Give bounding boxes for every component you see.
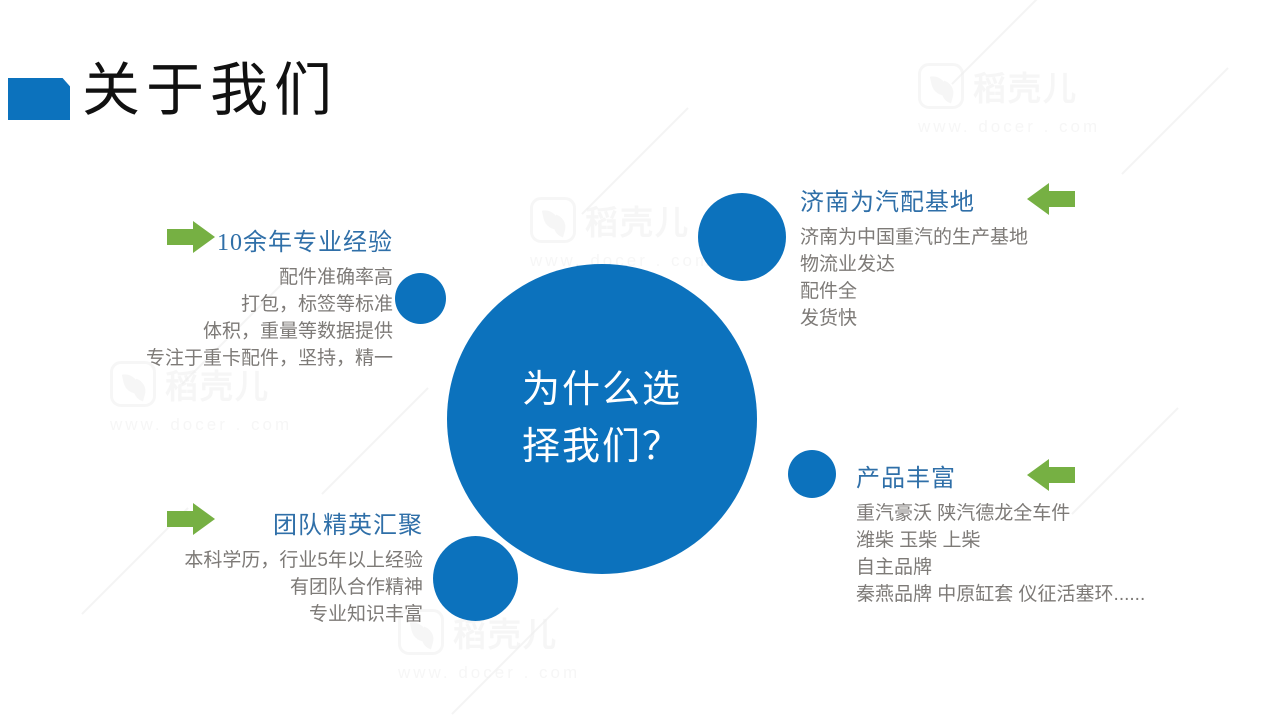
center-circle-label: 为什么选 择我们？ [507,362,697,476]
feature-body: 配件准确率高 打包，标签等标准 体积，重量等数据提供 专注于重卡配件，坚持，精一 [0,265,395,373]
watermark-url: www. docer . com [110,415,340,435]
watermark-diagonal-line [451,607,558,714]
decorative-circle-top-right [698,193,786,281]
feature-block-top-left: 10余年专业经验 配件准确率高 打包，标签等标准 体积，重量等数据提供 专注于重… [0,222,395,373]
watermark-brand: 稻壳儿 [973,62,1078,110]
feature-heading: 10余年专业经验 [0,222,395,257]
watermark-url: www. docer . com [918,117,1148,137]
watermark-url: www. docer . com [398,663,628,683]
watermark: 稻壳儿 www. docer . com [110,360,340,468]
watermark: 稻壳儿 www. docer . com [918,62,1148,170]
watermark-diagonal-line [951,0,1058,85]
feature-heading: 济南为汽配基地 [800,182,1120,217]
docer-leaf-logo-icon [530,197,576,243]
decorative-circle-right [788,450,836,498]
title-accent-tab [8,78,70,120]
watermark-diagonal-line [1121,67,1228,174]
watermark: 稻壳儿 www. docer . com [398,608,628,715]
watermark-diagonal-line [321,387,428,494]
feature-block-top-right: 济南为汽配基地 济南为中国重汽的生产基地 物流业发达 配件全 发货快 [800,182,1120,333]
feature-body: 济南为中国重汽的生产基地 物流业发达 配件全 发货快 [800,225,1120,333]
feature-heading: 产品丰富 [856,458,1216,493]
slide-canvas: 稻壳儿 www. docer . com 稻壳儿 www. docer . co… [0,0,1273,715]
decorative-circle-left [395,273,446,324]
watermark-brand: 稻壳儿 [585,196,690,244]
docer-leaf-logo-icon [918,63,964,109]
watermark-diagonal-line [581,107,688,214]
feature-body: 本科学历，行业5年以上经验 有团队合作精神 专业知识丰富 [0,548,425,629]
page-title: 关于我们 [82,58,338,125]
feature-block-bottom-right: 产品丰富 重汽豪沃 陕汽德龙全车件 潍柴 玉柴 上柴 自主品牌 秦燕品牌 中原缸… [856,458,1216,609]
center-circle: 为什么选 择我们？ [447,264,757,574]
feature-heading: 团队精英汇聚 [0,505,425,540]
feature-body: 重汽豪沃 陕汽德龙全车件 潍柴 玉柴 上柴 自主品牌 秦燕品牌 中原缸套 仪征活… [856,501,1216,609]
feature-block-bottom-left: 团队精英汇聚 本科学历，行业5年以上经验 有团队合作精神 专业知识丰富 [0,505,425,629]
decorative-circle-bottom-left [433,536,518,621]
